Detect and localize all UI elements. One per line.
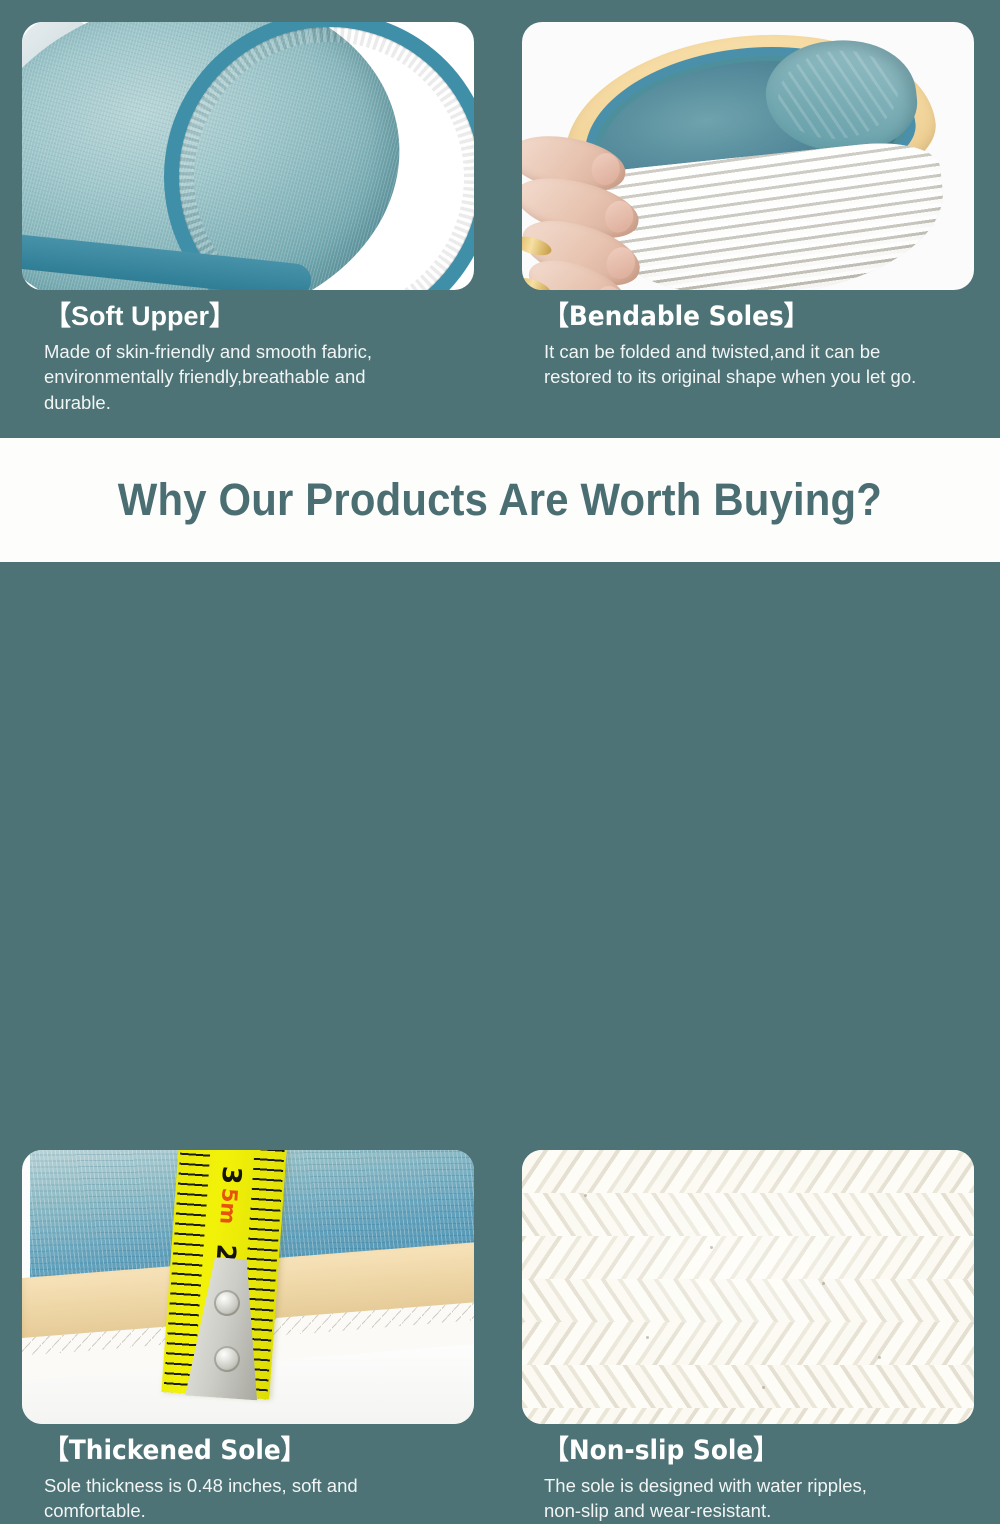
tread-sheen (522, 1150, 974, 1424)
tread-speck (710, 1246, 713, 1249)
thickened-sole-photo: 3 5m 2 (22, 1150, 474, 1424)
soft-upper-caption: 【Soft Upper】 Made of skin-friendly and s… (22, 290, 474, 415)
tread-speck (822, 1282, 825, 1285)
feature-title: 【Soft Upper】 (44, 300, 474, 334)
bottom-feature-section: 3 5m 2 【Thickened Sole】 Sole thickness i… (0, 562, 1000, 1000)
feature-title: 【Non-slip Sole】 (544, 1434, 940, 1468)
feature-card-thickened-sole: 3 5m 2 【Thickened Sole】 Sole thickness i… (22, 1150, 474, 1524)
feature-body: Sole thickness is 0.48 inches, soft and … (44, 1473, 464, 1524)
tread-speck (646, 1336, 649, 1339)
fingernail (603, 244, 639, 283)
tread-speck (584, 1194, 587, 1197)
feature-title: 【Bendable Soles】 (544, 300, 940, 334)
tape-rivet (214, 1346, 240, 1372)
fingernail (589, 151, 622, 187)
tape-rivet (214, 1290, 240, 1316)
headline-banner: Why Our Products Are Worth Buying? (0, 438, 1000, 562)
tape-brand-label: 5m (215, 1187, 241, 1225)
page-title: Why Our Products Are Worth Buying? (118, 474, 882, 526)
product-feature-poster: 【Soft Upper】 Made of skin-friendly and s… (0, 0, 1000, 1000)
bendable-soles-caption: 【Bendable Soles】 It can be folded and tw… (522, 290, 974, 390)
thickened-sole-caption: 【Thickened Sole】 Sole thickness is 0.48 … (22, 1424, 474, 1524)
bendable-soles-photo (522, 22, 974, 290)
tread-speck (878, 1356, 881, 1359)
feature-card-non-slip-sole: 【Non-slip Sole】 The sole is designed wit… (522, 1150, 974, 1524)
tape-mark: 3 (215, 1165, 246, 1185)
feature-title: 【Thickened Sole】 (44, 1434, 440, 1468)
feature-body: Made of skin-friendly and smooth fabric,… (44, 339, 464, 416)
feature-card-bendable-soles: 【Bendable Soles】 It can be folded and tw… (522, 22, 974, 390)
non-slip-sole-caption: 【Non-slip Sole】 The sole is designed wit… (522, 1424, 974, 1524)
soft-upper-photo (22, 22, 474, 290)
feature-card-soft-upper: 【Soft Upper】 Made of skin-friendly and s… (22, 22, 474, 415)
non-slip-sole-photo (522, 1150, 974, 1424)
feature-body: It can be folded and twisted,and it can … (544, 339, 964, 390)
hand-holding-slipper (522, 134, 708, 290)
tread-speck (762, 1386, 765, 1389)
fingernail (602, 198, 636, 235)
top-feature-section: 【Soft Upper】 Made of skin-friendly and s… (0, 0, 1000, 438)
feature-body: The sole is designed with water ripples,… (544, 1473, 964, 1524)
